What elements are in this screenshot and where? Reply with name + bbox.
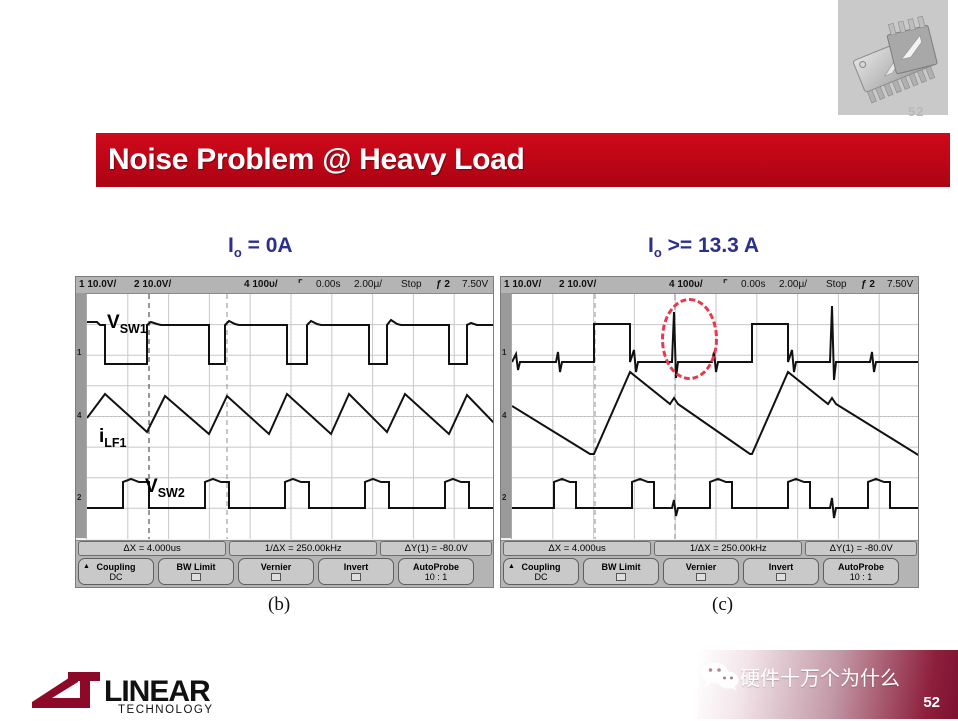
oscilloscope-screenshot-b: 1 10.0V/ 2 10.0V/ 4 100υ/ ⌜ 0.00s 2.00μ/… [75,276,494,588]
checkbox-icon[interactable] [616,573,626,581]
softkey-coupling-label: Coupling [522,562,561,572]
scope-trig-level: 7.50V [887,279,913,290]
scope-ch4-setting: 4 100υ/ [244,279,278,290]
scope-trig-source: ƒ 2 [436,279,450,290]
page-number: 52 [923,694,940,711]
softkey-vernier-label: Vernier [686,562,717,572]
softkey-autoprobe[interactable]: AutoProbe 10 : 1 [398,558,474,585]
scope-softkey-bar-c: ▲ Coupling DC BW Limit Vernier Invert Au… [501,556,918,587]
svg-text:TECHNOLOGY: TECHNOLOGY [118,704,214,716]
trace-label-vsw1: VSW1 [107,312,147,336]
condition-value-left: = 0A [242,234,293,257]
scope-ch2-setting: 2 10.0V/ [134,279,171,290]
softkey-invert[interactable]: Invert [318,558,394,585]
softkey-vernier[interactable]: Vernier [663,558,739,585]
scope-waveforms-b [87,294,493,539]
scope-delay: 0.00s [741,279,765,290]
scope-waveform-area-b: VSW1 iLF1 VSW2 [86,294,493,539]
ic-package-badge [838,0,948,115]
trace-label-vsw1-main: V [107,312,120,333]
condition-label-left: Io = 0A [228,234,293,260]
softkey-autoprobe-label: AutoProbe [838,562,884,572]
condition-label-right: Io >= 13.3 A [648,234,759,260]
scope-trig-source: ƒ 2 [861,279,875,290]
watermark-text: 硬件十万个为什么 [740,662,900,691]
lt-logo-icon: LINEAR TECHNOLOGY [30,668,215,716]
rail-mark-ch4: 4 [77,411,81,420]
softkey-coupling[interactable]: ▲ Coupling DC [78,558,154,585]
softkey-autoprobe-label: AutoProbe [413,562,459,572]
softkey-invert[interactable]: Invert [743,558,819,585]
wechat-watermark: 硬件十万个为什么 52 [698,650,958,719]
checkbox-icon[interactable] [191,573,201,581]
figure-caption-b: (b) [268,594,290,616]
trigger-edge-icon: ⌜ [298,279,303,290]
softkey-coupling-value: DC [110,572,123,582]
softkey-vernier[interactable]: Vernier [238,558,314,585]
condition-subscript-left: o [234,245,242,260]
scope-measurement-bar-b: ΔX = 4.000us 1/ΔX = 250.00kHz ΔY(1) = -8… [76,540,493,556]
softkey-bw-limit-label: BW Limit [177,562,216,572]
scope-ch1-setting: 1 10.0V/ [79,279,116,290]
scope-timebase: 2.00μ/ [779,279,807,290]
softkey-bw-limit-label: BW Limit [602,562,641,572]
checkbox-icon[interactable] [776,573,786,581]
linear-technology-logo: LINEAR TECHNOLOGY [30,668,215,721]
softkey-vernier-label: Vernier [261,562,292,572]
rail-mark-ch4: 4 [502,411,506,420]
scope-delay: 0.00s [316,279,340,290]
condition-value-right: >= 13.3 A [662,234,759,257]
slide-title-banner: Noise Problem @ Heavy Load [96,133,950,187]
scope-header-c: 1 10.0V/ 2 10.0V/ 4 100υ/ ⌜ 0.00s 2.00μ/… [501,277,918,294]
trace-label-vsw2-main: V [145,476,158,497]
scope-trig-level: 7.50V [462,279,488,290]
checkbox-icon[interactable] [696,573,706,581]
scope-run-state: Stop [401,279,422,290]
ic-package-icon [838,0,948,115]
trace-label-ilf1: iLF1 [99,426,127,450]
softkey-autoprobe-value: 10 : 1 [425,572,448,582]
softkey-invert-label: Invert [769,562,794,572]
figure-caption-c: (c) [712,594,733,616]
wechat-icon [700,660,740,694]
softkey-coupling-value: DC [535,572,548,582]
softkey-autoprobe-value: 10 : 1 [850,572,873,582]
softkey-coupling-label: Coupling [97,562,136,572]
scope-ch2-setting: 2 10.0V/ [559,279,596,290]
rail-mark-ch2: 2 [77,493,81,502]
measurement-delta-x: ΔX = 4.000us [78,541,226,556]
scope-softkey-bar-b: ▲ Coupling DC BW Limit Vernier Invert Au… [76,556,493,587]
scope-timebase: 2.00μ/ [354,279,382,290]
scope-ch4-setting: 4 100υ/ [669,279,703,290]
scope-ch1-setting: 1 10.0V/ [504,279,541,290]
rail-mark-ch1: 1 [502,348,506,357]
trigger-edge-icon: ⌜ [723,279,728,290]
scope-header-b: 1 10.0V/ 2 10.0V/ 4 100υ/ ⌜ 0.00s 2.00μ/… [76,277,493,294]
softkey-bw-limit[interactable]: BW Limit [158,558,234,585]
rail-mark-ch1: 1 [77,348,81,357]
measurement-delta-y: ΔY(1) = -80.0V [380,541,492,556]
scope-channel-rail-b: 1 4 2 [76,293,86,538]
condition-subscript-right: o [654,245,662,260]
measurement-inv-delta-x: 1/ΔX = 250.00kHz [229,541,377,556]
ghost-page-number: 52 [908,104,924,119]
trace-label-vsw1-sub: SW1 [120,322,147,336]
measurement-delta-y: ΔY(1) = -80.0V [805,541,917,556]
trace-label-ilf1-sub: LF1 [104,436,126,450]
measurement-inv-delta-x: 1/ΔX = 250.00kHz [654,541,802,556]
page-title: Noise Problem @ Heavy Load [96,143,525,177]
softkey-coupling[interactable]: ▲ Coupling DC [503,558,579,585]
softkey-invert-label: Invert [344,562,369,572]
rail-mark-ch2: 2 [502,493,506,502]
softkey-autoprobe[interactable]: AutoProbe 10 : 1 [823,558,899,585]
scope-run-state: Stop [826,279,847,290]
scope-channel-rail-c: 1 4 2 [501,293,511,538]
trace-label-vsw2: VSW2 [145,476,185,500]
checkbox-icon[interactable] [271,573,281,581]
checkbox-icon[interactable] [351,573,361,581]
caret-up-icon: ▲ [508,562,515,572]
trace-label-vsw2-sub: SW2 [158,486,185,500]
caret-up-icon: ▲ [83,562,90,572]
softkey-bw-limit[interactable]: BW Limit [583,558,659,585]
noise-spike-highlight-ellipse [661,298,718,380]
scope-measurement-bar-c: ΔX = 4.000us 1/ΔX = 250.00kHz ΔY(1) = -8… [501,540,918,556]
measurement-delta-x: ΔX = 4.000us [503,541,651,556]
